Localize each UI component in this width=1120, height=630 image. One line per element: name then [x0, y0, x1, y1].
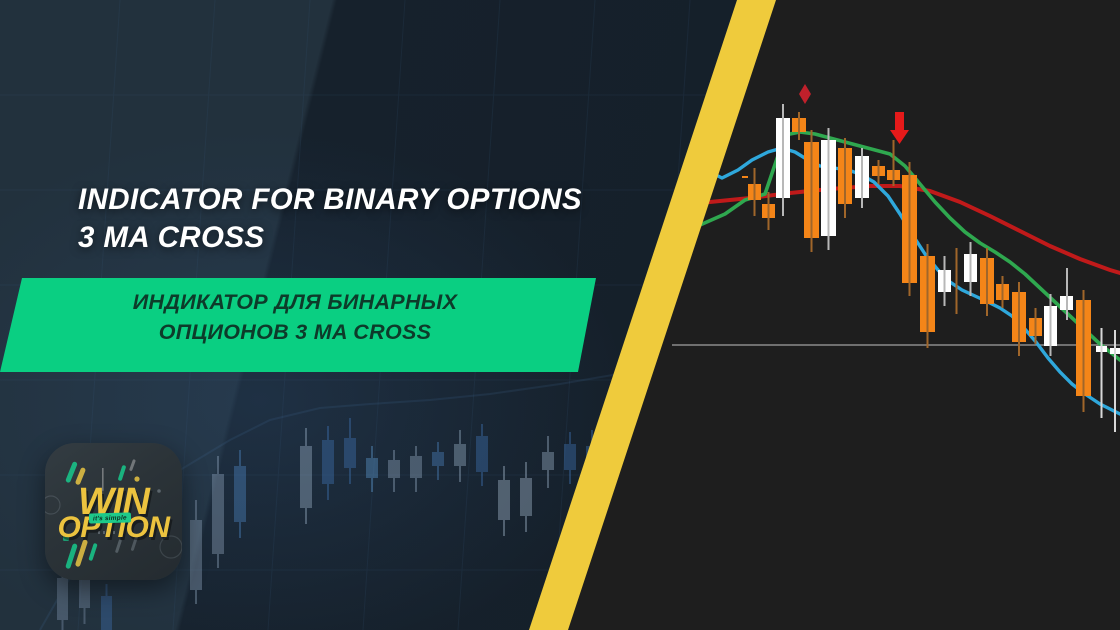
logo-badge: it's simple	[89, 512, 131, 523]
subtitle: ИНДИКАТОР ДЛЯ БИНАРНЫХ ОПЦИОНОВ 3 MA CRO…	[0, 288, 590, 347]
promo-banner: INDICATOR FOR BINARY OPTIONS 3 MA CROSS …	[0, 0, 1120, 630]
subtitle-line-2: ОПЦИОНОВ 3 MA CROSS	[0, 318, 590, 348]
page-title: INDICATOR FOR BINARY OPTIONS 3 MA CROSS	[78, 181, 658, 258]
brand-logo[interactable]: WIN OPTION it's simple	[45, 443, 182, 580]
headline-line-2: 3 MA CROSS	[78, 219, 658, 257]
headline-line-1: INDICATOR FOR BINARY OPTIONS	[78, 183, 582, 216]
subtitle-line-1: ИНДИКАТОР ДЛЯ БИНАРНЫХ	[133, 290, 457, 314]
